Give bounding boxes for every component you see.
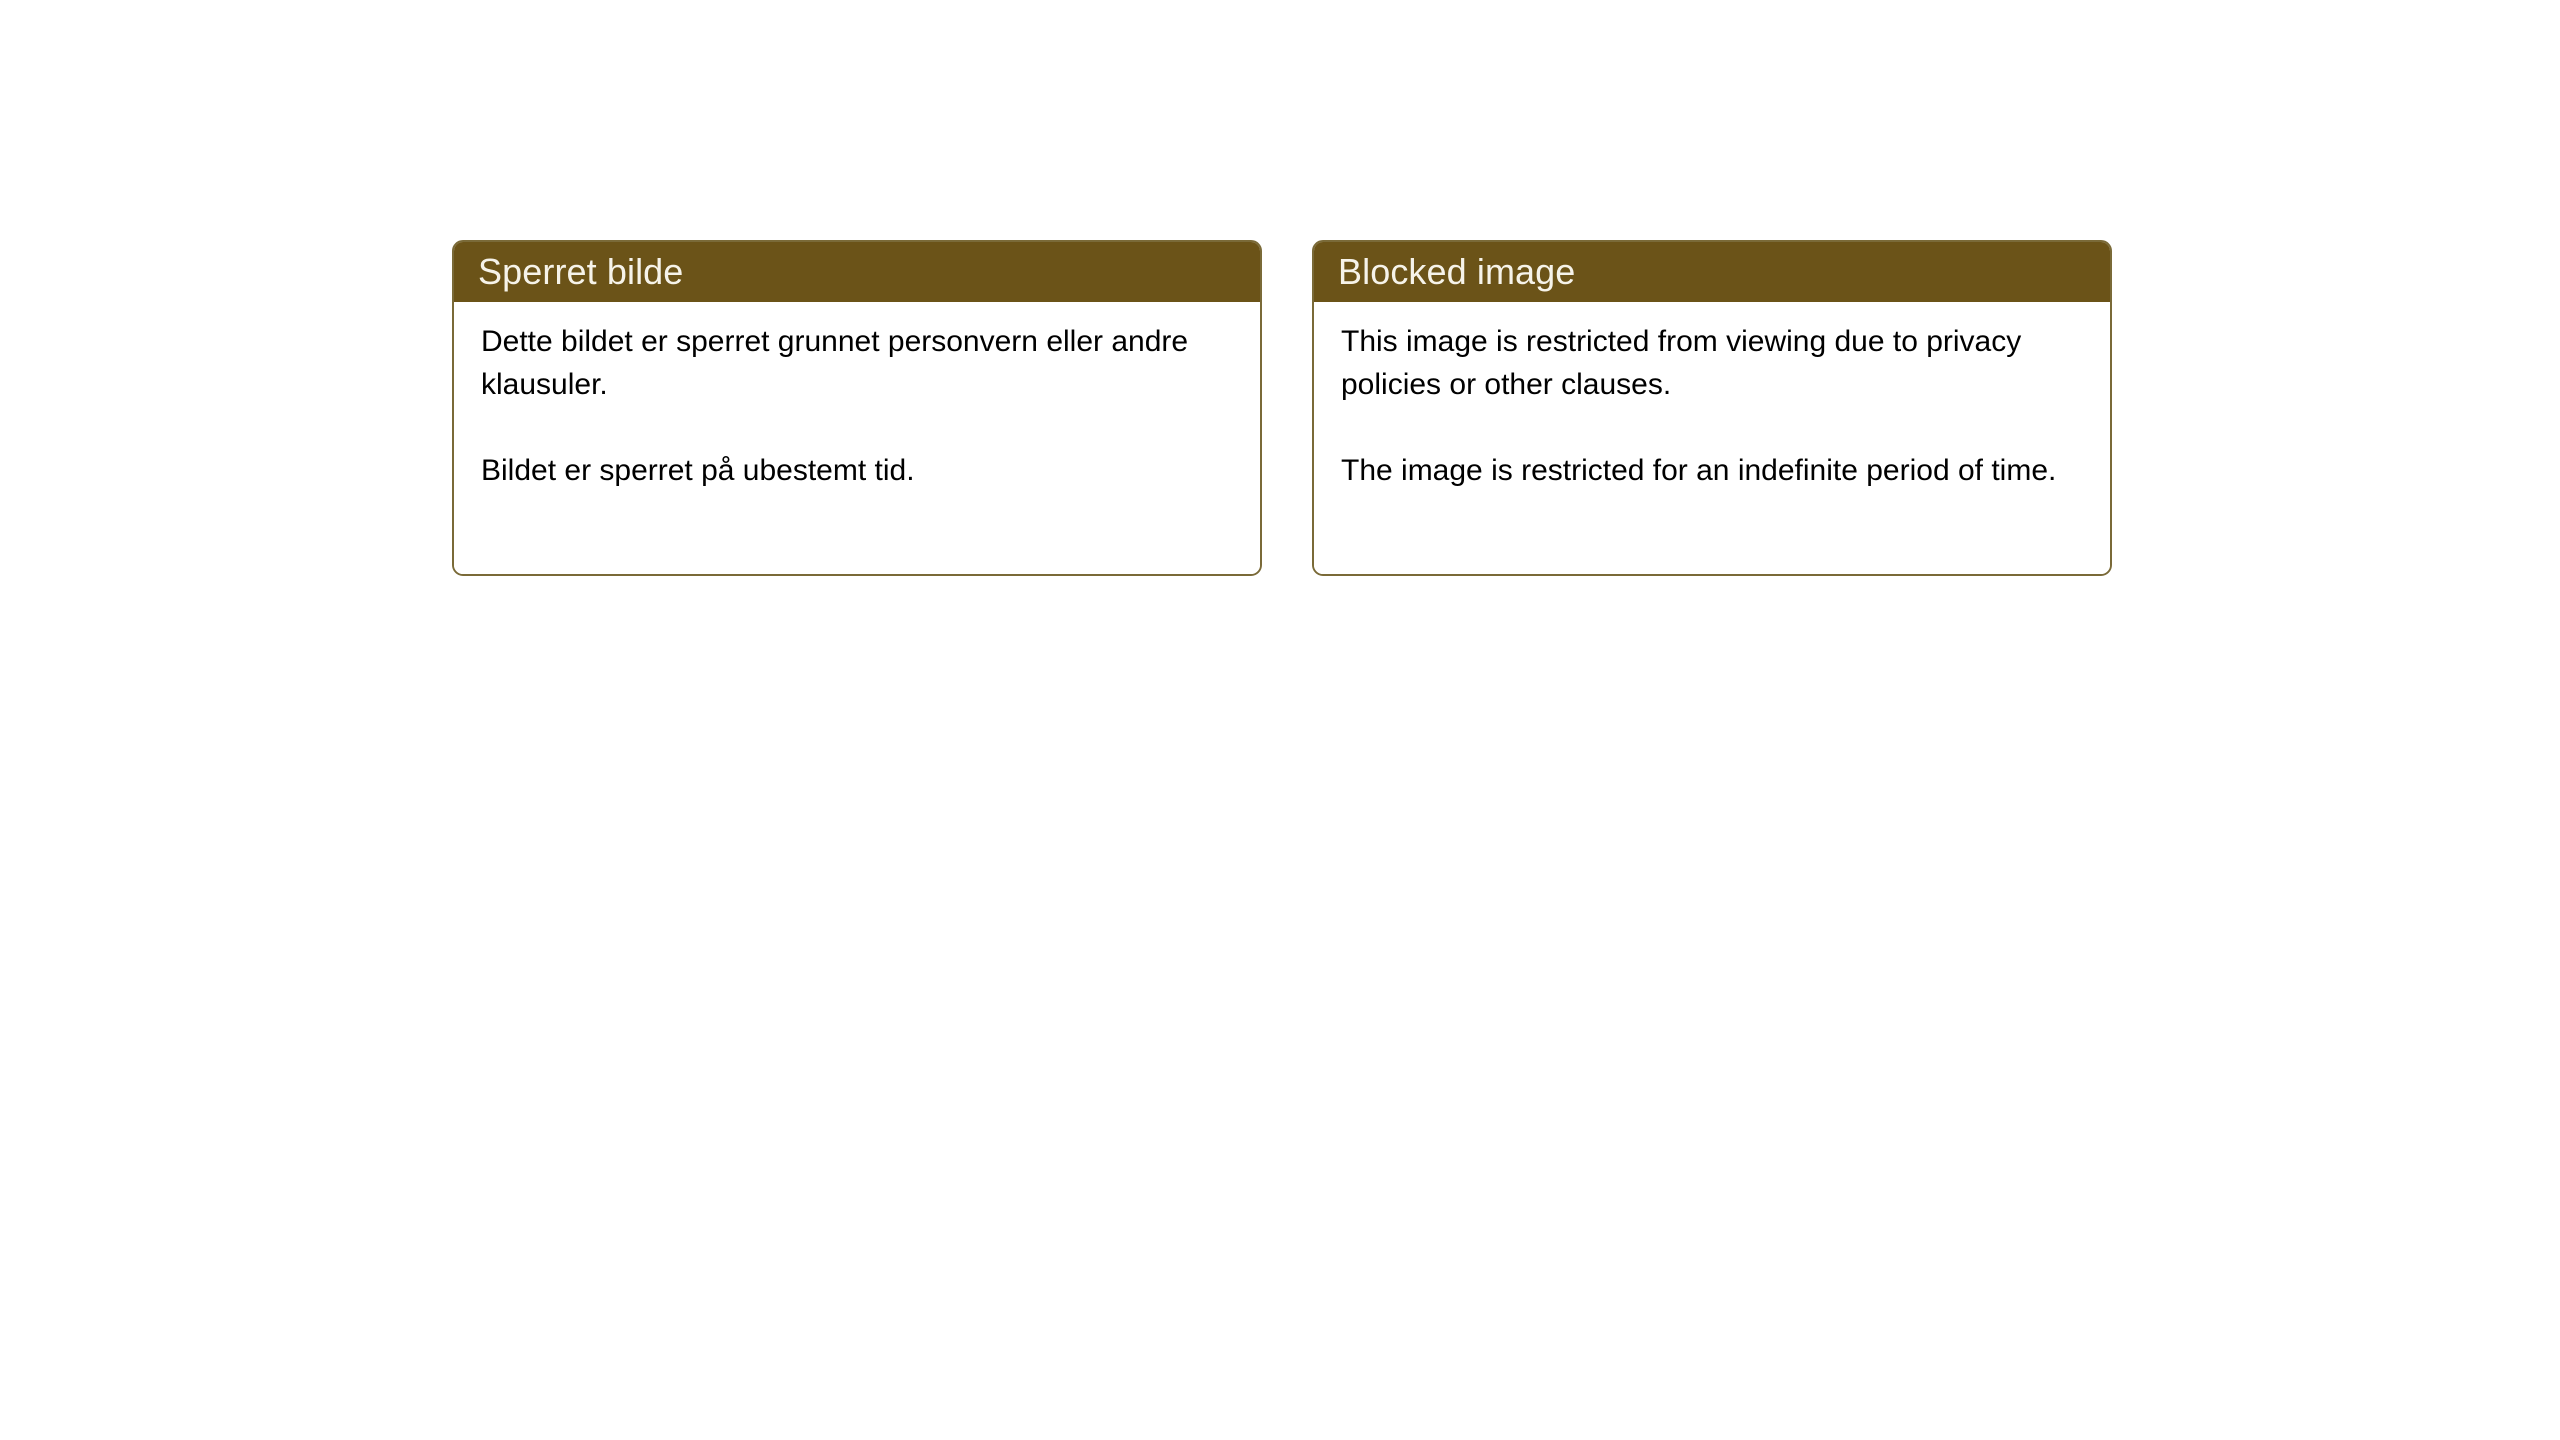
blocked-image-panel-norwegian: Sperret bilde Dette bildet er sperret gr… — [452, 240, 1262, 576]
panel-body-norwegian: Dette bildet er sperret grunnet personve… — [454, 302, 1260, 574]
panel-body-english: This image is restricted from viewing du… — [1314, 302, 2110, 574]
panel-paragraph-norwegian-2: Bildet er sperret på ubestemt tid. — [481, 449, 1238, 492]
blocked-image-notice-stage: Sperret bilde Dette bildet er sperret gr… — [452, 240, 2112, 576]
panel-paragraph-norwegian-1: Dette bildet er sperret grunnet personve… — [481, 320, 1238, 406]
panel-header-norwegian: Sperret bilde — [454, 242, 1260, 302]
panel-paragraph-english-1: This image is restricted from viewing du… — [1341, 320, 2088, 406]
panel-paragraph-english-2: The image is restricted for an indefinit… — [1341, 449, 2088, 492]
panel-header-english: Blocked image — [1314, 242, 2110, 302]
panel-title-norwegian: Sperret bilde — [478, 254, 683, 290]
blocked-image-panel-english: Blocked image This image is restricted f… — [1312, 240, 2112, 576]
panel-title-english: Blocked image — [1338, 254, 1575, 290]
